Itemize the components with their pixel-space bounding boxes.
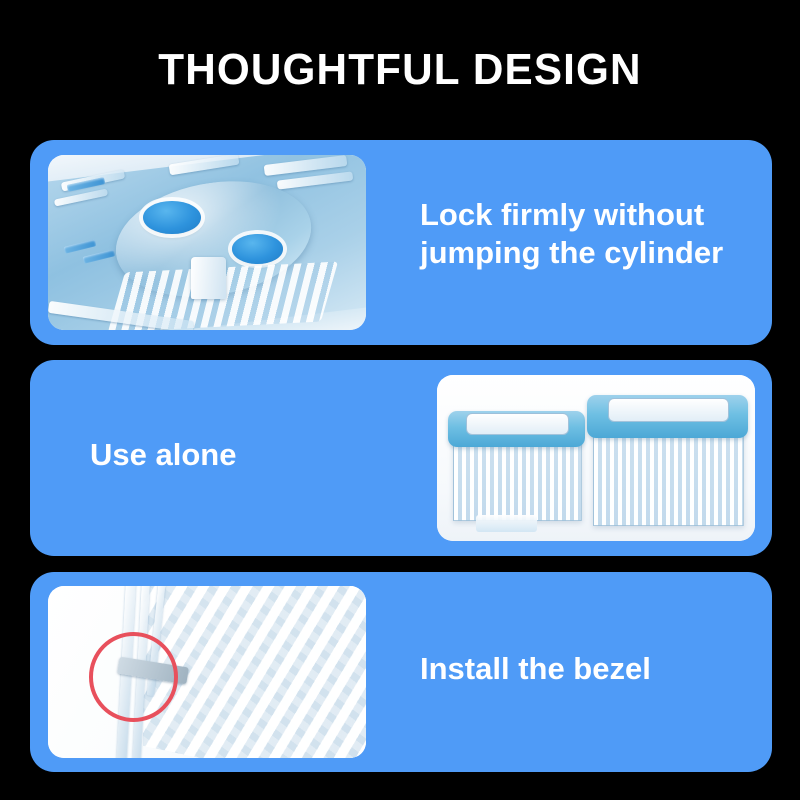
red-circle-annotation-icon bbox=[89, 632, 178, 721]
bin-foot bbox=[476, 515, 537, 532]
promo-graphic: THOUGHTFUL DESIGN Lock firmly without ju… bbox=[0, 0, 800, 800]
product-photo-lid bbox=[48, 155, 366, 330]
feature-card-use-alone: Use alone bbox=[30, 360, 772, 556]
card-caption: Install the bezel bbox=[420, 650, 740, 688]
card-caption: Lock firmly without jumping the cylinder bbox=[420, 196, 765, 272]
bin-mouth bbox=[608, 398, 730, 423]
lid-center-post bbox=[191, 257, 226, 299]
bin-mouth bbox=[466, 413, 570, 434]
lid-hole-small bbox=[232, 234, 283, 264]
bin-large bbox=[593, 383, 742, 526]
bin-body bbox=[593, 422, 744, 526]
feature-card-lock-firmly: Lock firmly without jumping the cylinder bbox=[30, 140, 772, 345]
page-title: THOUGHTFUL DESIGN bbox=[16, 44, 784, 96]
product-photo-bezel-macro bbox=[48, 586, 366, 758]
bin-body bbox=[453, 434, 582, 521]
product-photo-bins bbox=[437, 375, 755, 541]
feature-card-install-bezel: Install the bezel bbox=[30, 572, 772, 772]
card-caption: Use alone bbox=[90, 436, 390, 474]
bin-small bbox=[453, 402, 580, 522]
lid-hole-large bbox=[143, 201, 200, 234]
